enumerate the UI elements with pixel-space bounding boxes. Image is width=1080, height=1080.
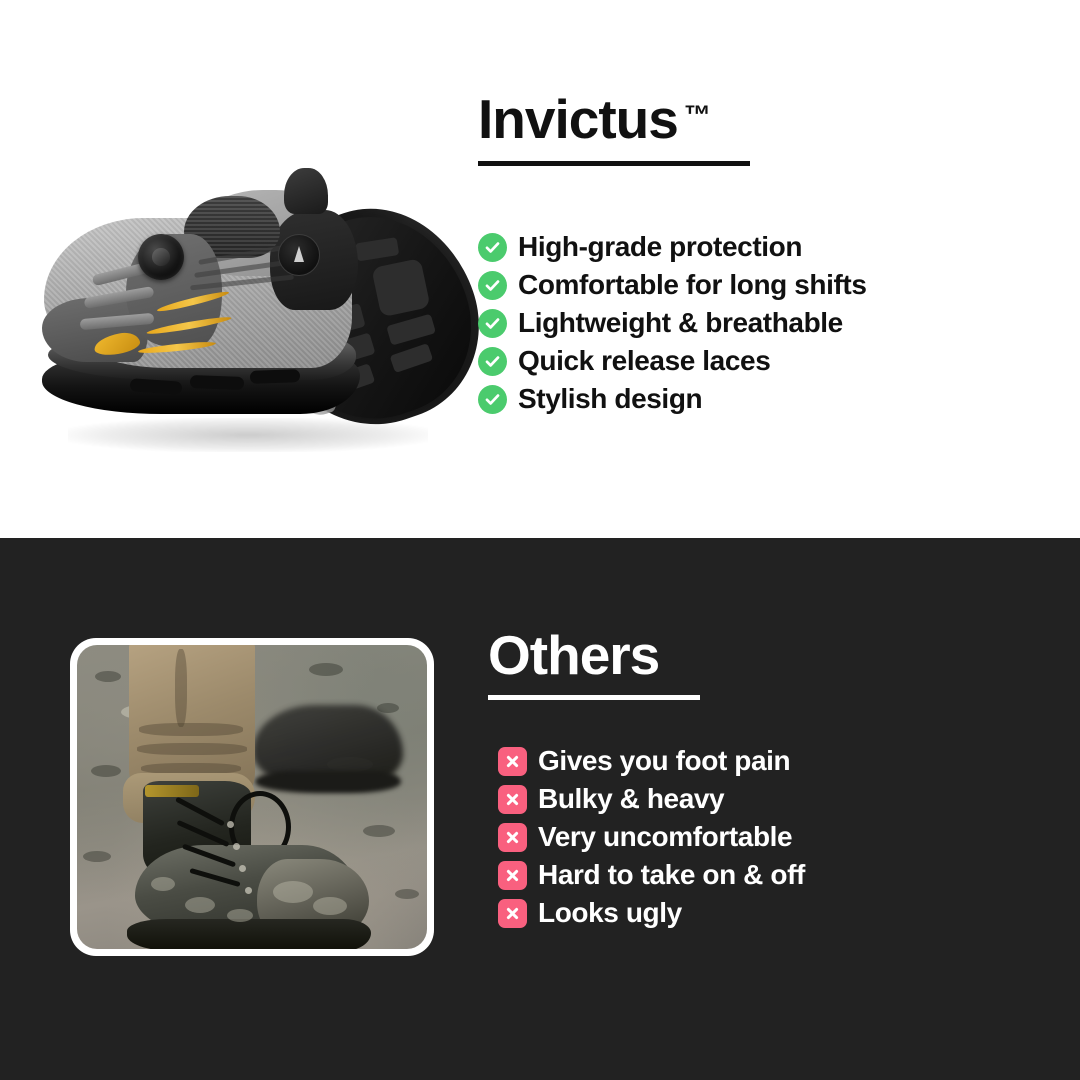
trademark-symbol: ™ xyxy=(684,100,711,130)
ground-texture xyxy=(91,765,121,777)
list-item-label: High-grade protection xyxy=(518,231,802,263)
check-circle-icon xyxy=(478,385,507,414)
mud-splatter xyxy=(227,909,253,922)
product-comparison-infographic: Invictus™ High-grade protection Comforta… xyxy=(0,0,1080,1080)
quick-release-dial-icon xyxy=(138,234,184,280)
list-item: Lightweight & breathable xyxy=(478,304,867,342)
list-item: Comfortable for long shifts xyxy=(478,266,867,304)
list-item: Bulky & heavy xyxy=(498,780,805,818)
sneaker-heel-pull-tab xyxy=(284,168,328,214)
list-item: Quick release laces xyxy=(478,342,867,380)
list-item: High-grade protection xyxy=(478,228,867,266)
product-benefits-list: High-grade protection Comfortable for lo… xyxy=(478,228,867,418)
competitor-drawbacks-list: Gives you foot pain Bulky & heavy Very u… xyxy=(498,742,805,932)
cross-square-icon xyxy=(498,785,527,814)
list-item-label: Lightweight & breathable xyxy=(518,307,843,339)
boot-outsole xyxy=(127,919,371,949)
ground-texture xyxy=(95,671,121,682)
ground-texture xyxy=(363,825,395,837)
list-item-label: Looks ugly xyxy=(538,897,682,929)
ground-texture xyxy=(309,663,343,676)
brand-name: Invictus xyxy=(478,88,678,150)
list-item: Looks ugly xyxy=(498,894,805,932)
title-underline xyxy=(488,695,700,700)
product-text-column: Invictus™ High-grade protection Comforta… xyxy=(470,0,1080,538)
section-title: Others xyxy=(488,628,700,683)
boot-eyelet xyxy=(233,843,240,850)
list-item-label: Gives you foot pain xyxy=(538,745,790,777)
product-section: Invictus™ High-grade protection Comforta… xyxy=(0,0,1080,538)
product-image-column xyxy=(0,0,470,538)
list-item-label: Very uncomfortable xyxy=(538,821,792,853)
midsole-blade xyxy=(250,369,300,384)
product-title-block: Invictus™ xyxy=(478,92,750,166)
list-item: Hard to take on & off xyxy=(498,856,805,894)
invictus-sneaker-photo xyxy=(28,118,458,478)
list-item: Gives you foot pain xyxy=(498,742,805,780)
cross-square-icon xyxy=(498,823,527,852)
trouser-fold xyxy=(137,743,247,755)
cross-square-icon xyxy=(498,899,527,928)
list-item-label: Quick release laces xyxy=(518,345,770,377)
mud-splatter xyxy=(151,877,175,891)
title-underline xyxy=(478,161,750,166)
midsole-blade xyxy=(190,375,244,390)
mud-splatter xyxy=(185,897,215,913)
muddy-work-boot-photo xyxy=(77,645,427,949)
cross-square-icon xyxy=(498,747,527,776)
check-circle-icon xyxy=(478,233,507,262)
ground-texture xyxy=(83,851,111,862)
check-circle-icon xyxy=(478,309,507,338)
boot-eyelet xyxy=(239,865,246,872)
cross-square-icon xyxy=(498,861,527,890)
brand-logo-badge xyxy=(278,234,320,276)
boot-brand-label xyxy=(145,785,199,797)
mud-splatter xyxy=(273,881,313,903)
competitor-title-block: Others xyxy=(488,628,700,700)
mud-splatter xyxy=(313,897,347,915)
list-item: Very uncomfortable xyxy=(498,818,805,856)
outsole-lug xyxy=(371,258,430,317)
list-item: Stylish design xyxy=(478,380,867,418)
list-item-label: Comfortable for long shifts xyxy=(518,269,867,301)
list-item-label: Bulky & heavy xyxy=(538,783,724,815)
trouser-fold xyxy=(139,723,243,736)
trouser-seam xyxy=(175,649,187,727)
competitor-boot-photo-frame xyxy=(70,638,434,956)
page-title: Invictus™ xyxy=(478,92,750,147)
ground-texture xyxy=(395,889,419,899)
sneaker-side-view xyxy=(38,148,368,438)
list-item-label: Stylish design xyxy=(518,383,702,415)
check-circle-icon xyxy=(478,347,507,376)
list-item-label: Hard to take on & off xyxy=(538,859,805,891)
boot-eyelet xyxy=(227,821,234,828)
check-circle-icon xyxy=(478,271,507,300)
background-boot-sole xyxy=(255,771,401,793)
boot-eyelet xyxy=(245,887,252,894)
